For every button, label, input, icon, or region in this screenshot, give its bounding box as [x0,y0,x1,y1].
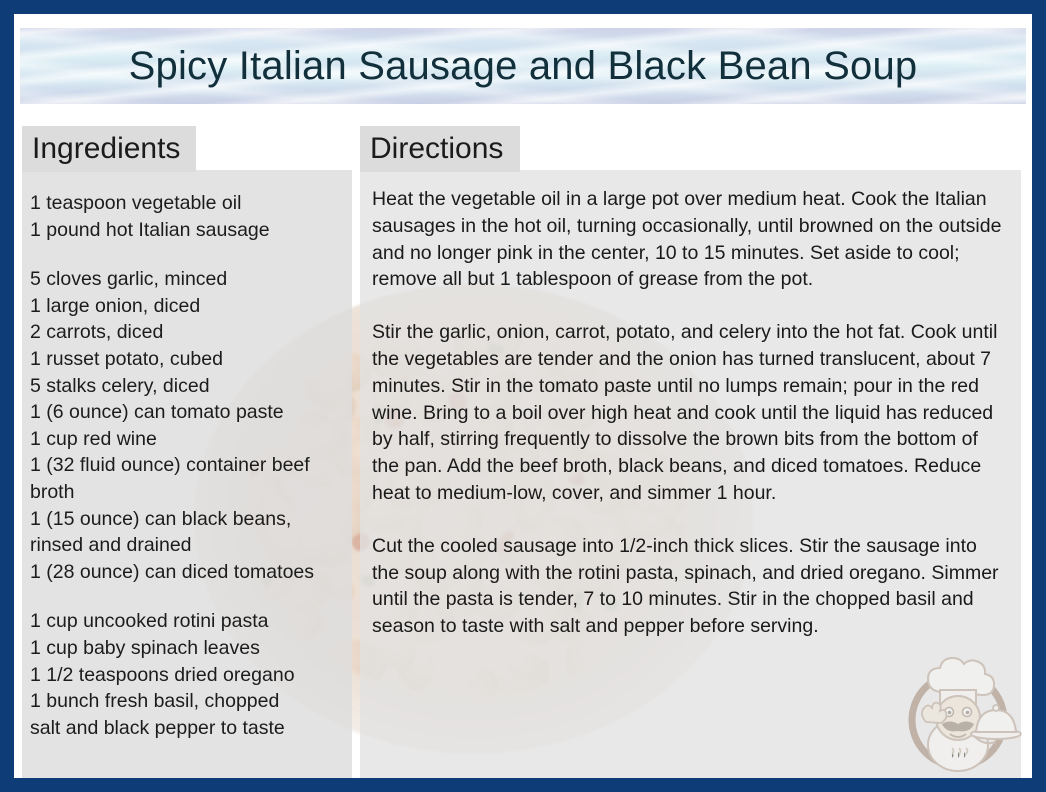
directions-heading-band: Directions [360,126,520,172]
ingredient-item: 1 cup baby spinach leaves [30,635,342,662]
recipe-card: Spicy Italian Sausage and Black Bean Sou… [0,0,1046,792]
direction-step: Stir the garlic, onion, carrot, potato, … [372,319,1009,507]
ingredient-group-spacer [30,243,342,266]
direction-step: Heat the vegetable oil in a large pot ov… [372,186,1009,293]
ingredient-item: 1 pound hot Italian sausage [30,217,342,244]
ingredient-item: 1 cup uncooked rotini pasta [30,608,342,635]
ingredients-heading-band: Ingredients [22,126,196,172]
ingredients-list: 1 teaspoon vegetable oil1 pound hot Ital… [22,190,348,741]
ingredient-item: 1 cup red wine [30,426,342,453]
ingredient-item: 1 russet potato, cubed [30,346,342,373]
direction-step: Cut the cooled sausage into 1/2-inch thi… [372,533,1009,640]
ingredient-item: 1 (28 ounce) can diced tomatoes [30,559,342,586]
card-canvas: Spicy Italian Sausage and Black Bean Sou… [14,14,1032,778]
ingredient-item: 1 bunch fresh basil, chopped [30,688,342,715]
ingredients-heading: Ingredients [22,132,180,166]
ingredient-item: 5 cloves garlic, minced [30,266,342,293]
title-banner: Spicy Italian Sausage and Black Bean Sou… [20,28,1026,104]
ingredient-item: 5 stalks celery, diced [30,373,342,400]
ingredient-item: salt and black pepper to taste [30,715,342,742]
ingredient-item: 1 teaspoon vegetable oil [30,190,342,217]
directions-heading: Directions [360,132,503,166]
ingredient-item: 1 (15 ounce) can black beans, rinsed and… [30,506,342,559]
ingredient-group-spacer [30,585,342,608]
ingredient-item: 1 (6 ounce) can tomato paste [30,399,342,426]
page-title: Spicy Italian Sausage and Black Bean Sou… [129,44,918,89]
ingredient-item: 2 carrots, diced [30,319,342,346]
ingredient-item: 1 (32 fluid ounce) container beef broth [30,452,342,505]
ingredient-item: 1 1/2 teaspoons dried oregano [30,662,342,689]
ingredient-item: 1 large onion, diced [30,293,342,320]
directions-steps: Heat the vegetable oil in a large pot ov… [360,186,1021,640]
